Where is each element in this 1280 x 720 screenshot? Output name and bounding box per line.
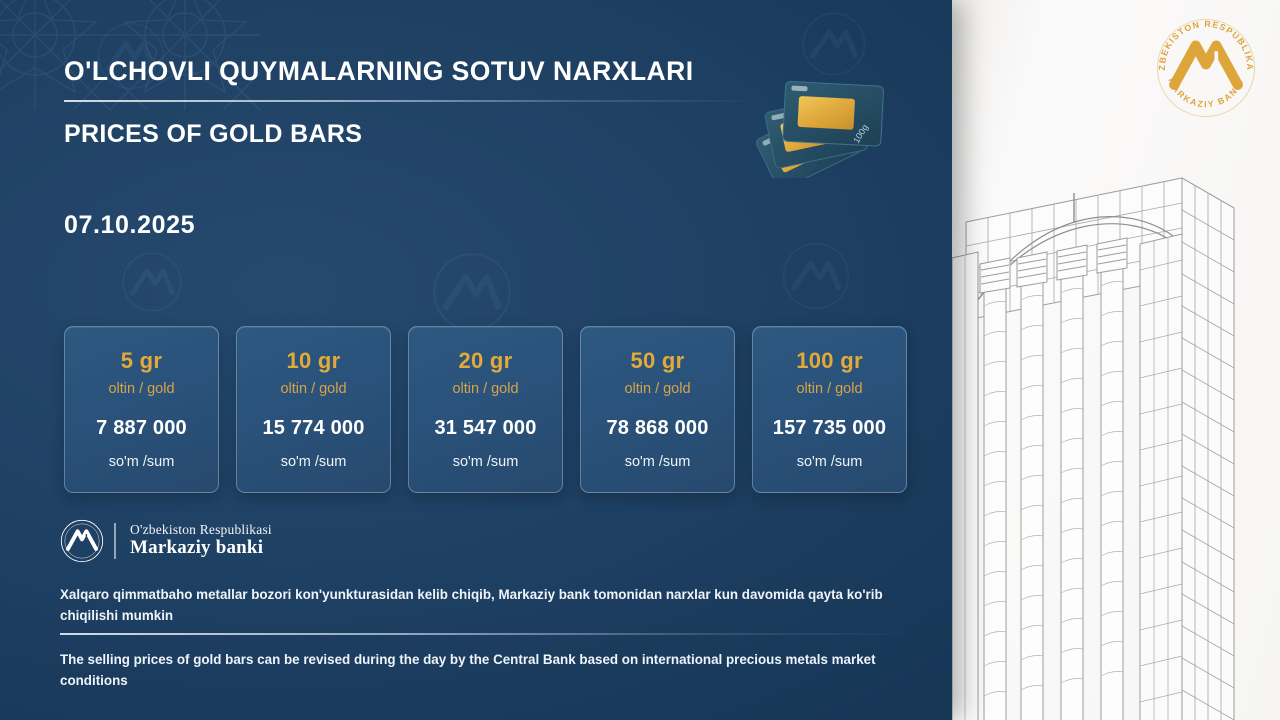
lockup-divider: [114, 523, 116, 559]
price-card-list: 5 gr oltin / gold 7 887 000 so'm /sum 10…: [64, 326, 907, 493]
card-metal: oltin / gold: [452, 381, 518, 397]
card-weight: 10 gr: [286, 348, 340, 374]
title-divider: [64, 100, 764, 102]
cbu-gold-seal-icon: O'ZBEKISTON RESPUBLIKASI MARKAZIY BANKI: [1150, 12, 1262, 124]
price-card[interactable]: 5 gr oltin / gold 7 887 000 so'm /sum: [64, 326, 219, 493]
card-weight: 100 gr: [796, 348, 863, 374]
main-blue-panel: O'LCHOVLI QUYMALARNING SOTUV NARXLARI PR…: [0, 0, 952, 720]
footer-divider: [60, 633, 920, 635]
price-card[interactable]: 50 gr oltin / gold 78 868 000 so'm /sum: [580, 326, 735, 493]
quote-date: 07.10.2025: [64, 211, 952, 240]
price-card[interactable]: 100 gr oltin / gold 157 735 000 so'm /su…: [752, 326, 907, 493]
card-price: 78 868 000: [606, 417, 708, 440]
card-metal: oltin / gold: [108, 381, 174, 397]
card-metal: oltin / gold: [796, 381, 862, 397]
card-unit: so'm /sum: [109, 454, 175, 470]
card-weight: 5 gr: [121, 348, 163, 374]
card-unit: so'm /sum: [453, 454, 519, 470]
card-price: 15 774 000: [262, 417, 364, 440]
card-unit: so'm /sum: [625, 454, 691, 470]
disclaimer-uz: Xalqaro qimmatbaho metallar bozori kon'y…: [60, 585, 905, 627]
price-card[interactable]: 10 gr oltin / gold 15 774 000 so'm /sum: [236, 326, 391, 493]
mb-seal-icon: [60, 519, 104, 563]
central-bank-building-lineart: [944, 130, 1274, 720]
disclaimer-en: The selling prices of gold bars can be r…: [60, 650, 910, 692]
card-metal: oltin / gold: [624, 381, 690, 397]
card-weight: 50 gr: [630, 348, 684, 374]
card-weight: 20 gr: [458, 348, 512, 374]
card-price: 7 887 000: [96, 417, 187, 440]
price-card[interactable]: 20 gr oltin / gold 31 547 000 so'm /sum: [408, 326, 563, 493]
bank-name-line1: O'zbekiston Respublikasi: [130, 522, 272, 538]
bank-name-line2: Markaziy banki: [130, 537, 272, 560]
card-price: 31 547 000: [434, 417, 536, 440]
card-unit: so'm /sum: [797, 454, 863, 470]
bank-logo-lockup: O'zbekiston Respublikasi Markaziy banki: [60, 519, 272, 563]
card-price: 157 735 000: [773, 417, 886, 440]
card-metal: oltin / gold: [280, 381, 346, 397]
gold-bars-icon: 100g: [752, 58, 912, 178]
card-unit: so'm /sum: [281, 454, 347, 470]
